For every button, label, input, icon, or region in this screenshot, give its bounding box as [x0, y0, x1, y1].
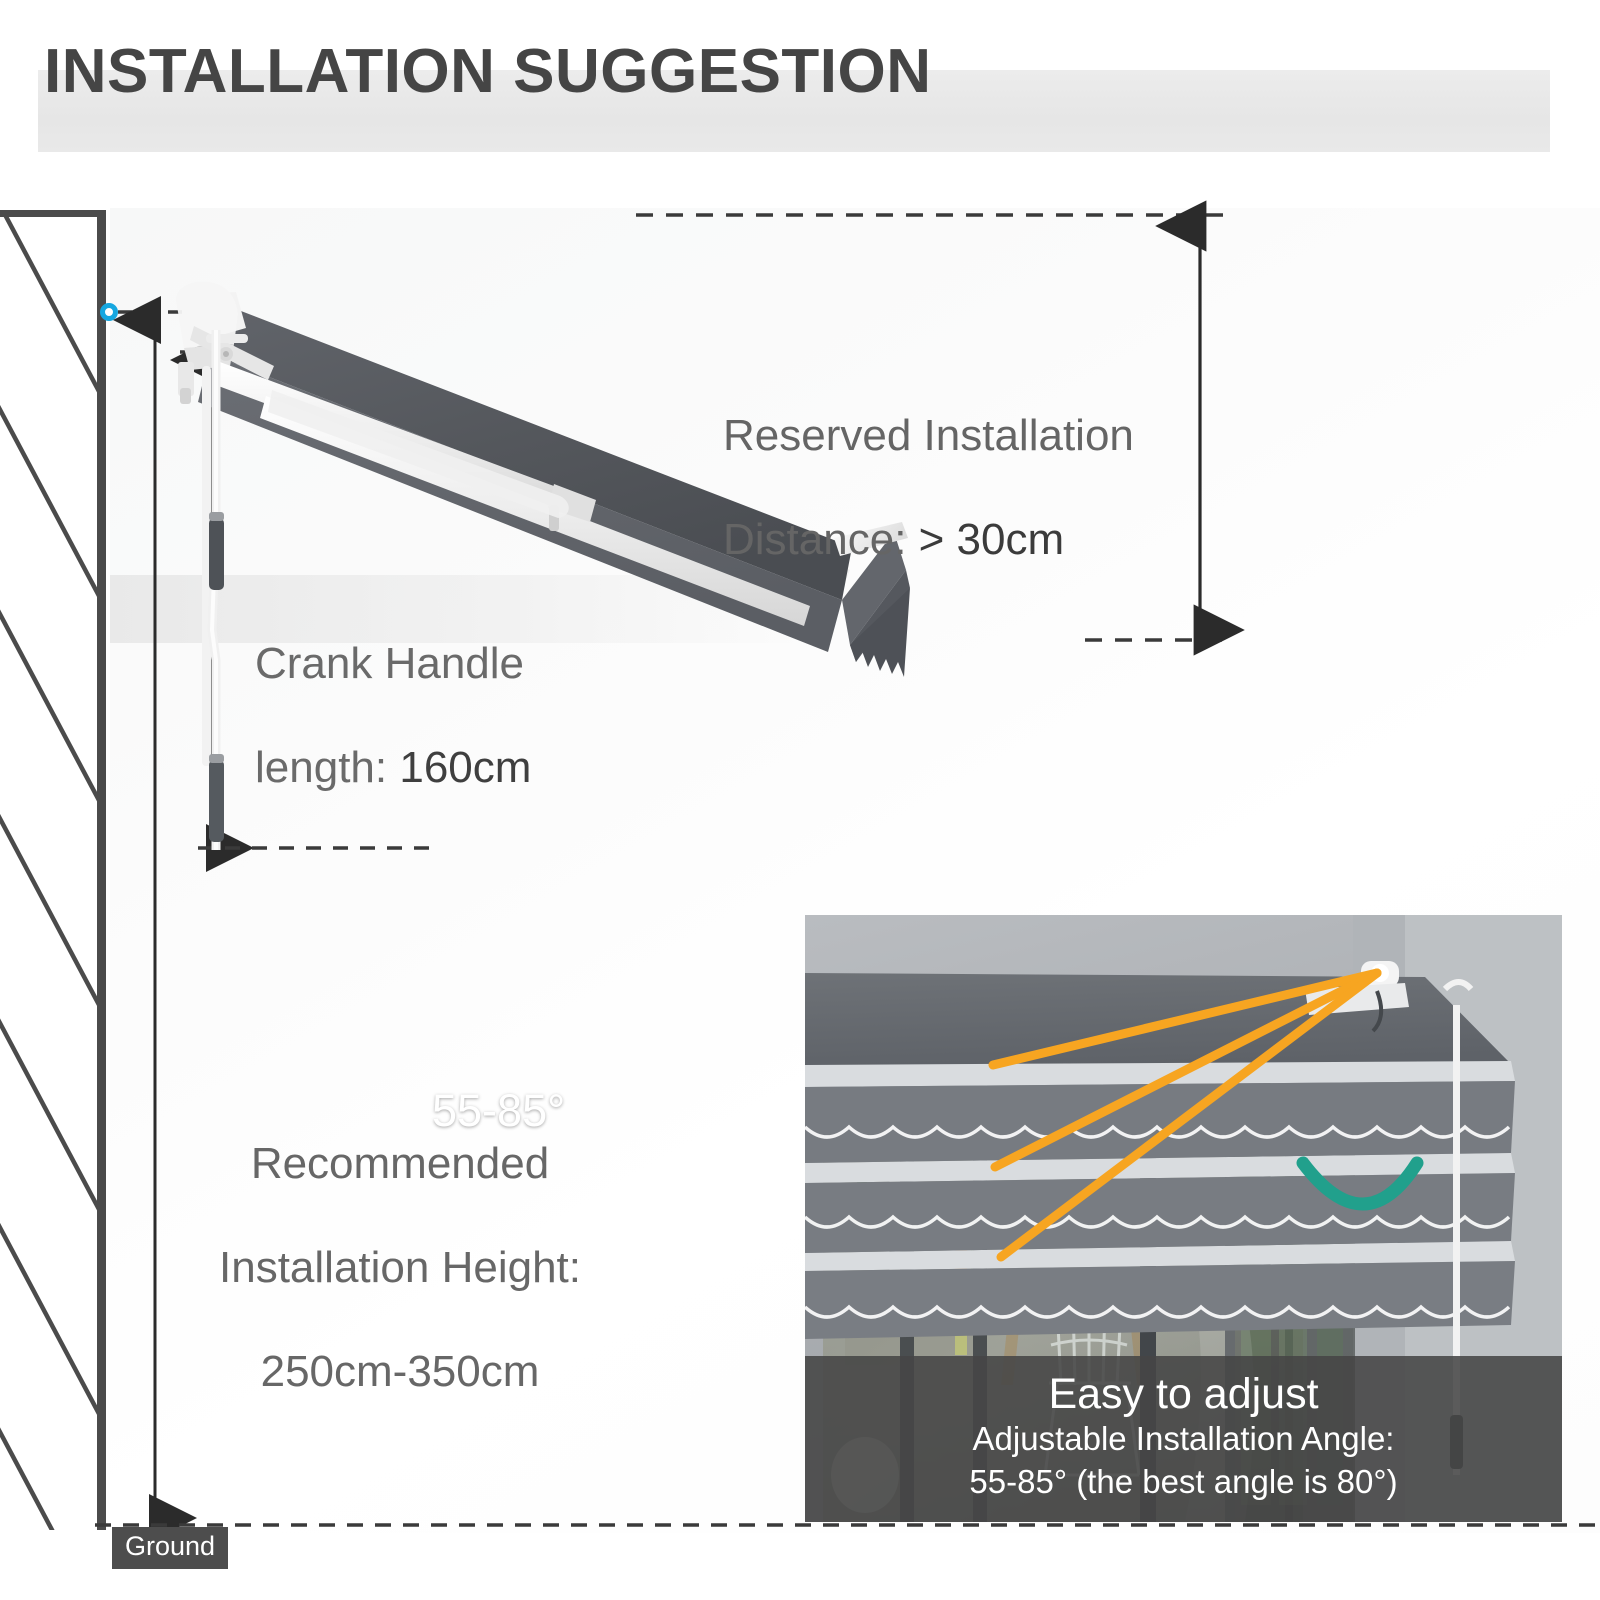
installation-height-line2: Installation Height: [219, 1243, 581, 1292]
installation-suggestion-page: INSTALLATION SUGGESTION [0, 0, 1600, 1600]
reserved-distance-value: > 30cm [919, 515, 1065, 564]
crank-grip-lower [209, 760, 224, 842]
crank-grip-upper [209, 518, 224, 590]
crank-handle-label: Crank Handle length: 160cm [255, 586, 531, 794]
photo-caption: Easy to adjust Adjustable Installation A… [805, 1356, 1562, 1522]
wall-inner-edge [97, 210, 106, 1530]
caption-line-2: 55-85° (the best angle is 80°) [805, 1461, 1562, 1504]
installation-height-label: Recommended Installation Height: 250cm-3… [150, 1086, 650, 1397]
wall-section [0, 210, 105, 1530]
wall-hatch-pattern [0, 210, 105, 1530]
reserved-distance-label: Reserved Installation Distance: > 30cm [723, 358, 1134, 566]
mount-point-marker [100, 303, 118, 321]
caption-title: Easy to adjust [805, 1370, 1562, 1418]
angle-overlay-text: 55-85° [432, 1085, 565, 1137]
ground-label: Ground [112, 1527, 228, 1569]
page-title: INSTALLATION SUGGESTION [44, 36, 932, 107]
installation-height-line3: 250cm-350cm [261, 1347, 540, 1396]
installation-height-line1: Recommended [251, 1139, 549, 1188]
crank-handle [190, 330, 250, 870]
adjustable-angle-photo-panel: Easy to adjust Adjustable Installation A… [805, 915, 1562, 1522]
wall-top-edge [0, 210, 105, 217]
crank-handle-value: 160cm [399, 743, 531, 792]
reserved-distance-line1: Reserved Installation [723, 411, 1134, 460]
crank-handle-line2-prefix: length: [255, 743, 399, 792]
crank-handle-line1: Crank Handle [255, 639, 524, 688]
reserved-distance-line2-prefix: Distance: [723, 515, 919, 564]
caption-line-1: Adjustable Installation Angle: [805, 1418, 1562, 1461]
